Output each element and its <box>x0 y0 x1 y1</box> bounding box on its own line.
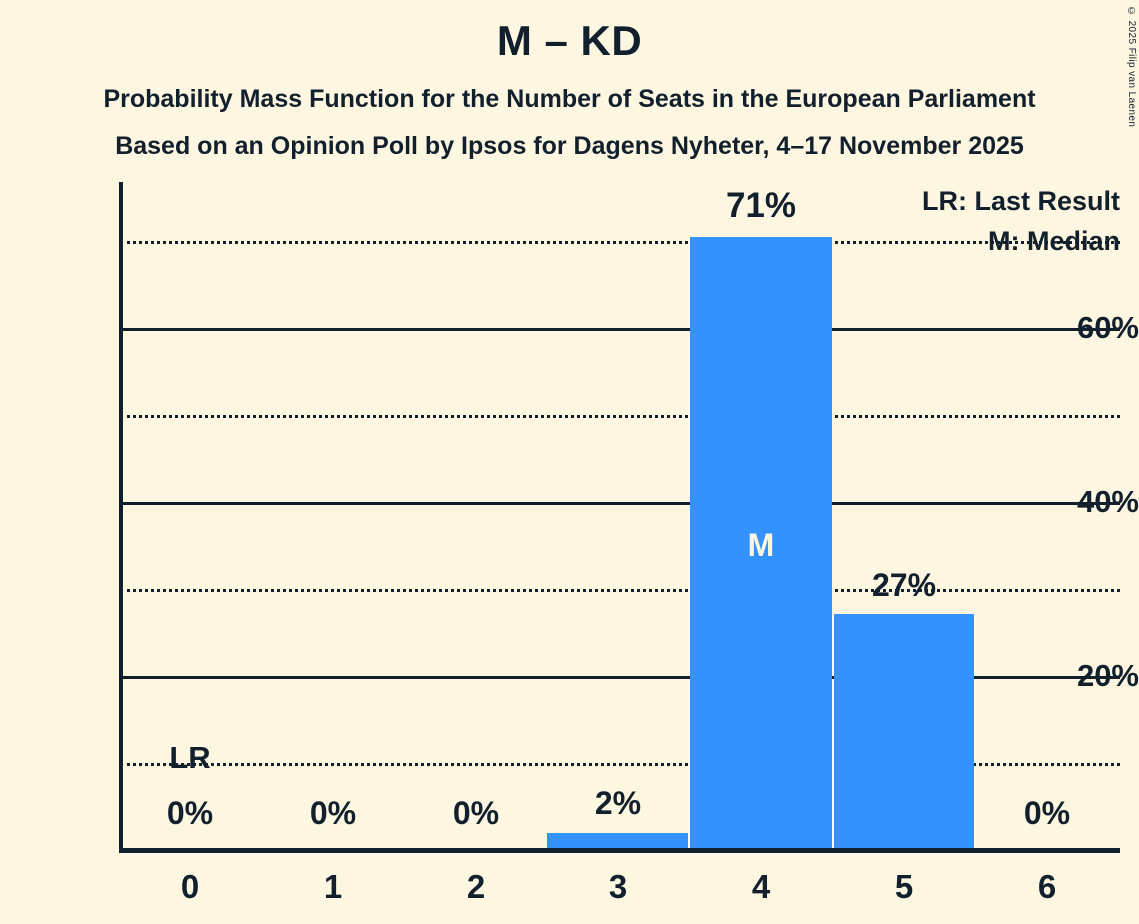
gridline-70 <box>120 241 1120 244</box>
bar-value-1: 0% <box>310 795 356 832</box>
x-axis <box>119 848 1120 853</box>
bar-value-4: 71% <box>726 186 796 226</box>
x-tick-label-3: 3 <box>609 868 627 906</box>
legend-last-result: LR: Last Result <box>922 186 1120 217</box>
last-result-marker: LR <box>169 740 210 776</box>
gridline-60 <box>120 328 1120 331</box>
x-tick-label-4: 4 <box>752 868 770 906</box>
gridline-50 <box>120 415 1120 418</box>
gridline-30 <box>120 589 1120 592</box>
x-tick-label-5: 5 <box>895 868 913 906</box>
x-tick-label-2: 2 <box>467 868 485 906</box>
x-tick-label-6: 6 <box>1038 868 1056 906</box>
bar-value-5: 27% <box>872 567 936 604</box>
y-tick-label-40: 40% <box>1034 484 1139 520</box>
bar-3[interactable] <box>547 833 688 848</box>
chart-plot-area: 60% 40% 20% 0% 0% 0% 2% 71% 27% 0% M LR … <box>0 0 1139 924</box>
bar-value-0: 0% <box>167 795 213 832</box>
x-tick-label-1: 1 <box>324 868 342 906</box>
bar-value-3: 2% <box>595 785 641 822</box>
x-tick-label-0: 0 <box>181 868 199 906</box>
y-tick-label-20: 20% <box>1034 658 1139 694</box>
bar-value-6: 0% <box>1024 795 1070 832</box>
median-marker: M <box>748 527 775 564</box>
legend-median: M: Median <box>988 226 1120 257</box>
bar-5[interactable] <box>834 614 974 848</box>
y-axis <box>119 182 123 852</box>
gridline-40 <box>120 502 1120 505</box>
bar-value-2: 0% <box>453 795 499 832</box>
y-tick-label-60: 60% <box>1034 310 1139 346</box>
